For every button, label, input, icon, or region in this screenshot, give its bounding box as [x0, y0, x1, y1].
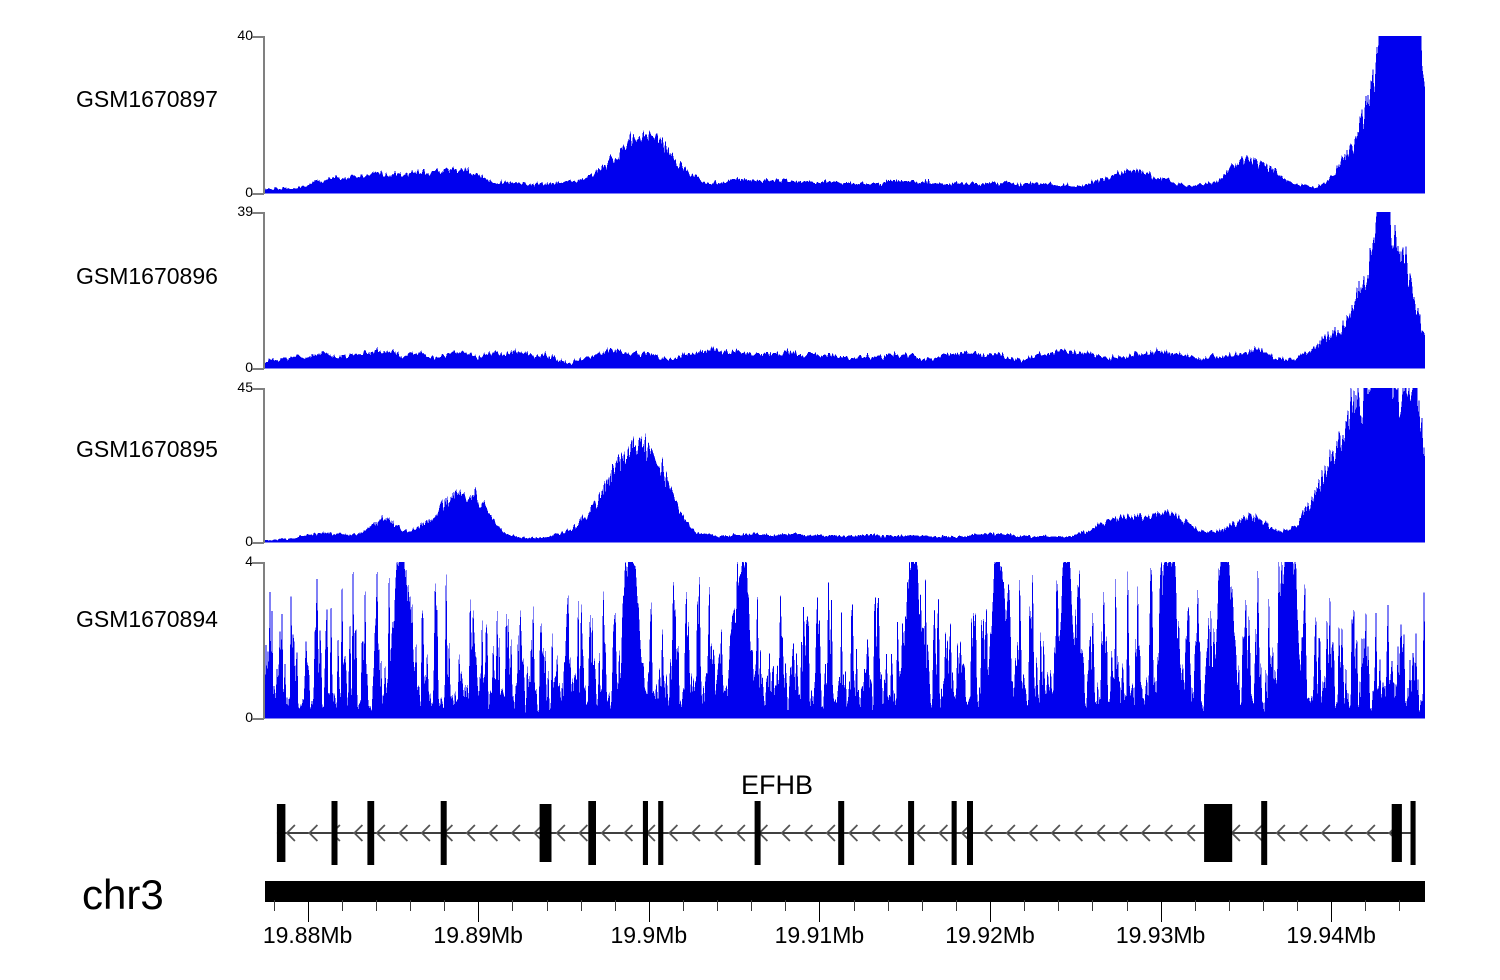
- ruler-minor-tick: [956, 900, 957, 911]
- ruler-minor-tick: [1127, 900, 1128, 911]
- gene-exon: [1261, 801, 1267, 865]
- track-label-gsm1670896: GSM1670896: [76, 263, 218, 290]
- gene-exon: [1411, 801, 1416, 865]
- ruler-major-tick: [649, 900, 650, 922]
- ruler-tick-label: 19.94Mb: [1286, 922, 1376, 949]
- ruler-minor-tick: [1263, 900, 1264, 911]
- ruler-minor-tick: [1058, 900, 1059, 911]
- ruler-major-tick: [1161, 900, 1162, 922]
- y-axis-tick-min: [252, 193, 264, 195]
- ruler-minor-tick: [785, 900, 786, 911]
- ruler-minor-tick: [717, 900, 718, 911]
- y-axis-max-label: 4: [213, 553, 253, 569]
- ruler-minor-tick: [751, 900, 752, 911]
- gene-annotation-track[interactable]: EFHB: [0, 760, 1500, 870]
- ruler-minor-tick: [444, 900, 445, 911]
- ruler-tick-label: 19.91Mb: [775, 922, 865, 949]
- ruler-tick-label: 19.92Mb: [945, 922, 1035, 949]
- ruler-minor-tick: [512, 900, 513, 911]
- y-axis-min-label: 0: [213, 359, 253, 375]
- track-label-gsm1670897: GSM1670897: [76, 86, 218, 113]
- ruler-tick-label: 19.89Mb: [433, 922, 523, 949]
- y-axis-tick-min: [252, 542, 264, 544]
- ruler-tick-label: 19.9Mb: [610, 922, 687, 949]
- gene-exon: [838, 801, 844, 865]
- ruler-minor-tick: [1024, 900, 1025, 911]
- ruler-minor-tick: [376, 900, 377, 911]
- y-axis-tick-min: [252, 718, 264, 720]
- y-axis-max-label: 39: [213, 203, 253, 219]
- ruler-minor-tick: [922, 900, 923, 911]
- y-axis-tick-min: [252, 368, 264, 370]
- gene-exon: [755, 801, 761, 865]
- gene-exon: [643, 801, 648, 865]
- gene-exon: [441, 801, 447, 865]
- ruler-major-tick: [819, 900, 820, 922]
- ruler-minor-tick: [888, 900, 889, 911]
- ruler-major-tick: [990, 900, 991, 922]
- gene-exon: [367, 801, 374, 865]
- ruler-minor-tick: [410, 900, 411, 911]
- gene-exon: [1204, 804, 1232, 862]
- genome-browser-view: GSM1670897400GSM1670896390GSM1670895450G…: [0, 0, 1500, 980]
- chromosome-ideogram-bar: [265, 881, 1425, 902]
- gene-exon: [277, 804, 286, 862]
- ruler-minor-tick: [1229, 900, 1230, 911]
- ruler-minor-tick: [1365, 900, 1366, 911]
- y-axis-tick-max: [252, 36, 264, 38]
- track-label-gsm1670895: GSM1670895: [76, 436, 218, 463]
- coverage-plot-area[interactable]: [265, 212, 1425, 370]
- track-label-gsm1670894: GSM1670894: [76, 606, 218, 633]
- coverage-plot-area[interactable]: [265, 562, 1425, 720]
- y-axis-tick-max: [252, 388, 264, 390]
- ruler-minor-tick: [1092, 900, 1093, 911]
- coverage-plot-area[interactable]: [265, 36, 1425, 195]
- ruler-minor-tick: [1195, 900, 1196, 911]
- y-axis-min-label: 0: [213, 709, 253, 725]
- y-axis-tick-max: [252, 212, 264, 214]
- y-axis-min-label: 0: [213, 533, 253, 549]
- y-axis-tick-max: [252, 562, 264, 564]
- ruler-minor-tick: [342, 900, 343, 911]
- ruler-minor-tick: [547, 900, 548, 911]
- ruler-minor-tick: [683, 900, 684, 911]
- ruler-tick-label: 19.88Mb: [263, 922, 353, 949]
- y-axis-min-label: 0: [213, 184, 253, 200]
- gene-exon: [952, 801, 957, 865]
- ruler-tick-label: 19.93Mb: [1116, 922, 1206, 949]
- ruler-major-tick: [1331, 900, 1332, 922]
- ruler-minor-tick: [1297, 900, 1298, 911]
- ruler-major-tick: [478, 900, 479, 922]
- y-axis-max-label: 40: [213, 27, 253, 43]
- y-axis-max-label: 45: [213, 379, 253, 395]
- gene-exon: [1392, 804, 1402, 862]
- gene-exon: [967, 801, 973, 865]
- gene-exon: [658, 801, 663, 865]
- ruler-minor-tick: [615, 900, 616, 911]
- coverage-plot-area[interactable]: [265, 388, 1425, 544]
- gene-exon: [540, 804, 552, 862]
- gene-exon: [908, 801, 914, 865]
- ruler-minor-tick: [274, 900, 275, 911]
- gene-exon: [588, 801, 596, 865]
- ruler-minor-tick: [854, 900, 855, 911]
- ruler-major-tick: [308, 900, 309, 922]
- ruler-minor-tick: [581, 900, 582, 911]
- gene-exon: [332, 801, 338, 865]
- ruler-minor-tick: [1399, 900, 1400, 911]
- gene-name-label: EFHB: [741, 770, 813, 801]
- position-ruler: 19.88Mb19.89Mb19.9Mb19.91Mb19.92Mb19.93M…: [0, 900, 1500, 980]
